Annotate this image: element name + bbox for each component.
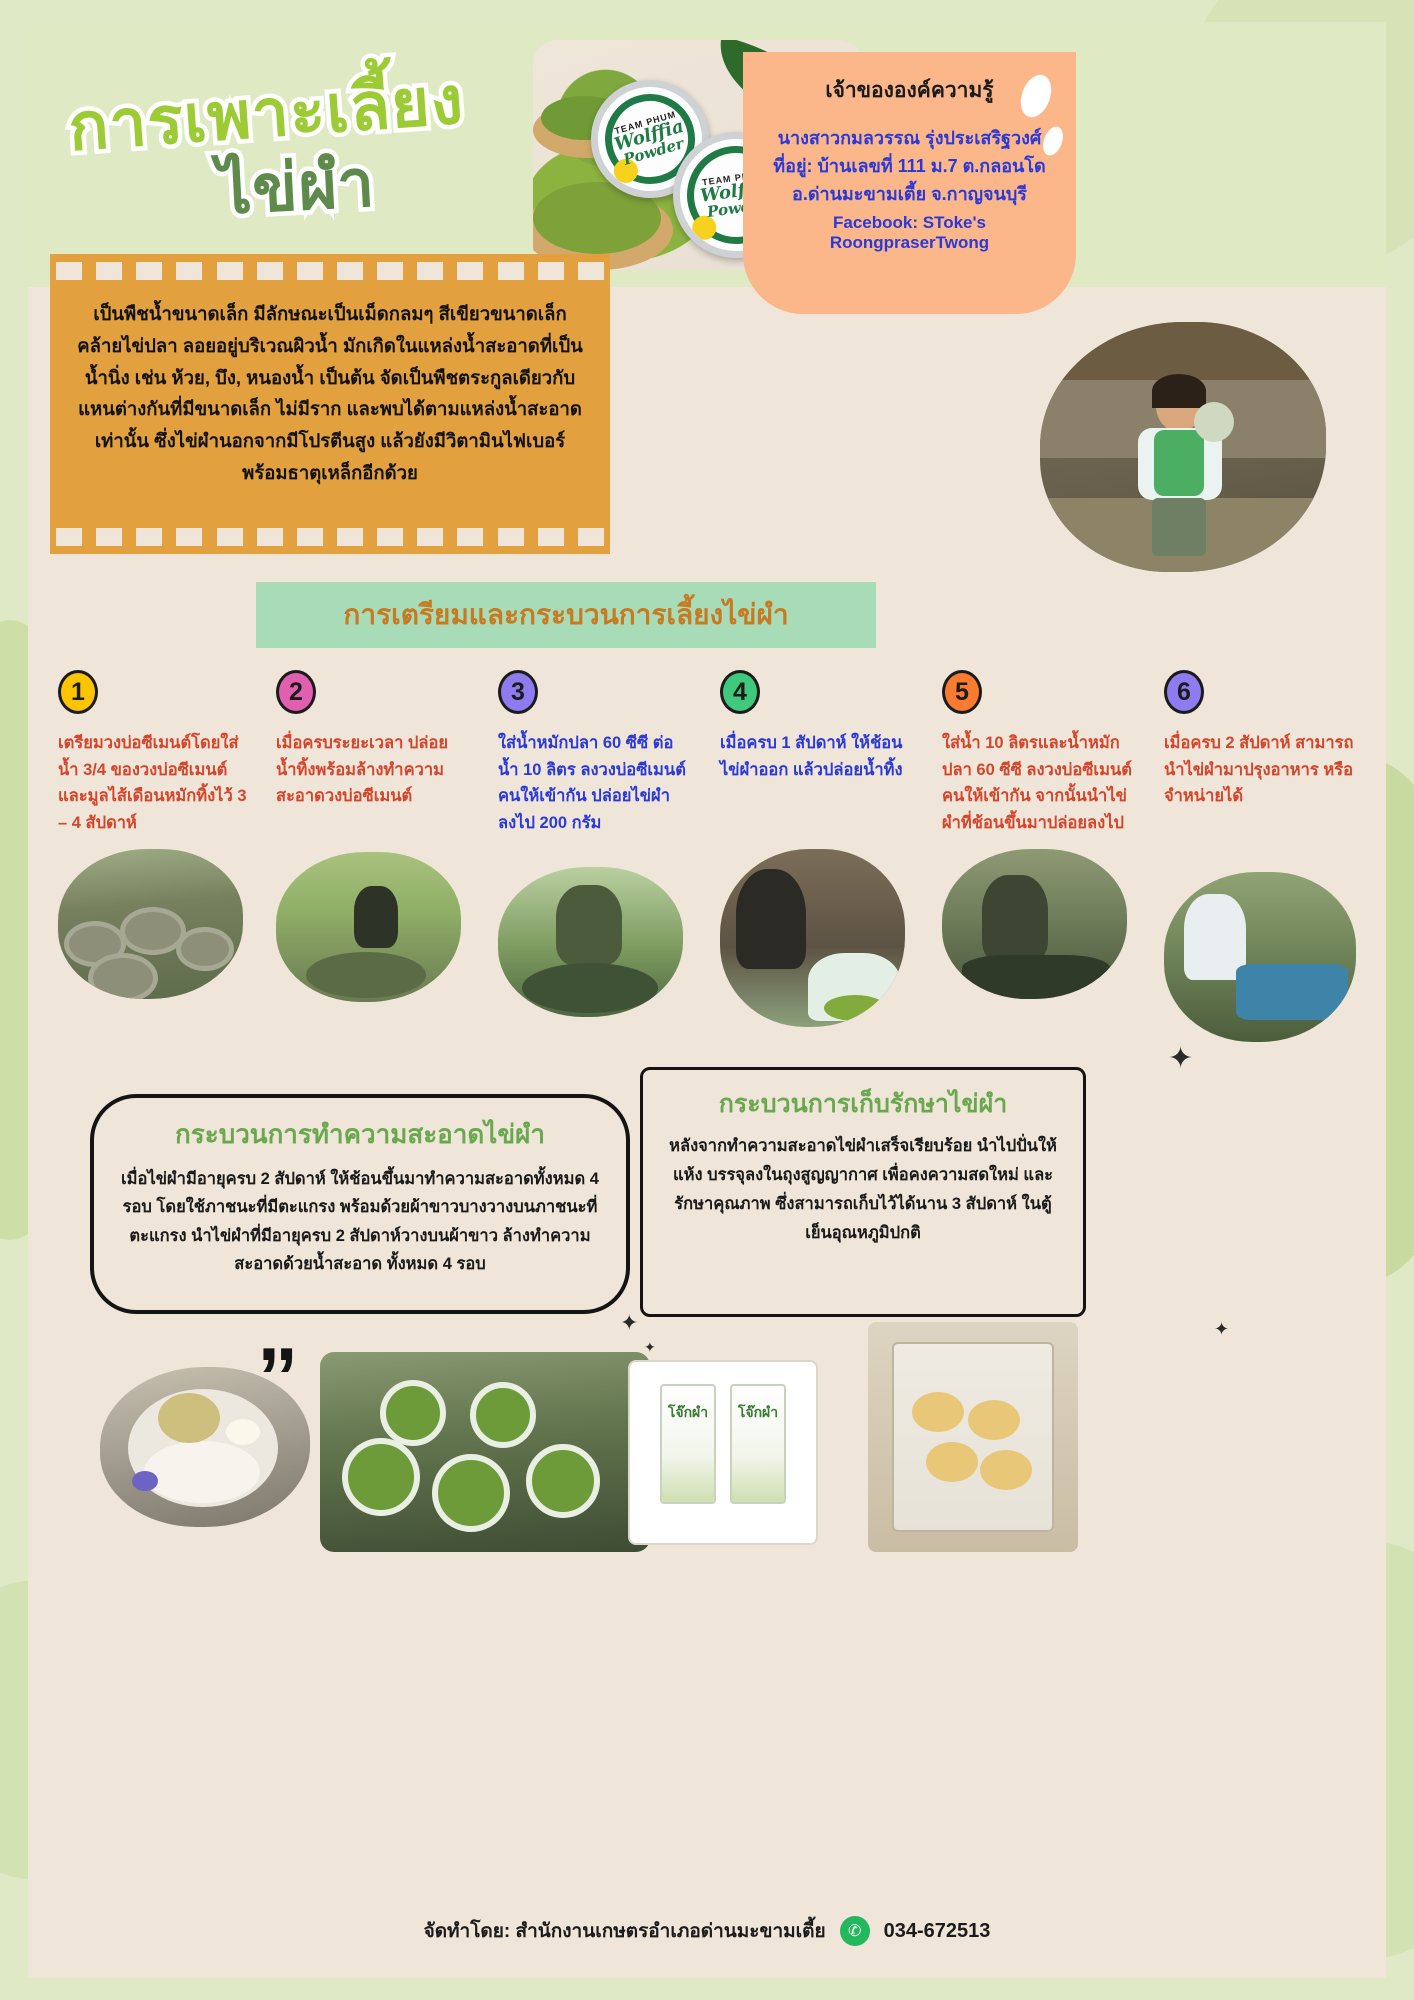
person-legs	[1152, 498, 1206, 556]
person-silhouette	[354, 886, 398, 948]
film-perforation-top	[50, 262, 610, 280]
step-text: เมื่อครบ 1 สัปดาห์ ให้ช้อนไข่ผำออก แล้วป…	[720, 730, 910, 783]
cement-ring	[176, 927, 234, 971]
congee-label: โจ๊กผำ	[732, 1402, 784, 1424]
sparkle-icon: ✦	[620, 1312, 638, 1334]
step-text: ใส่น้ำหมักปลา 60 ซีซี ต่อน้ำ 10 ลิตร ลงว…	[498, 730, 688, 837]
step-number-badge: 3	[498, 670, 538, 714]
sparkle-icon: ✦	[1214, 1320, 1229, 1338]
section-header: การเตรียมและกระบวนการเลี้ยงไข่ผำ	[256, 582, 876, 648]
noodle-shape	[144, 1441, 260, 1503]
pond-shape	[522, 963, 658, 1013]
person-silhouette	[1184, 894, 1246, 980]
wolffia-cup	[526, 1444, 600, 1518]
step-item: 2 เมื่อครบระยะเวลา ปล่อยน้ำทิ้งพร้อมล้าง…	[276, 670, 466, 1002]
farmer-photo	[1040, 322, 1326, 572]
egg-shape	[226, 1419, 260, 1445]
description-box: เป็นพืชน้ำขนาดเล็ก มีลักษณะเป็นเม็ดกลมๆ …	[50, 254, 610, 554]
owner-address-line-1: ที่อยู่: บ้านเลขที่ 111 ม.7 ต.กลอนโด	[761, 153, 1058, 181]
step-text: เตรียมวงบ่อซีเมนต์โดยใส่น้ำ 3/4 ของวงบ่อ…	[58, 730, 248, 837]
step-number-badge: 1	[58, 670, 98, 714]
owner-address-line-2: อ.ด่านมะขามเตี้ย จ.กาญจนบุรี	[761, 181, 1058, 209]
person-vest	[1154, 430, 1204, 496]
cookie-shape	[912, 1392, 964, 1432]
step-photo	[58, 849, 243, 999]
storage-text: หลังจากทำความสะอาดไข่ผำเสร็จเรียบร้อย นำ…	[663, 1132, 1063, 1248]
owner-heading: เจ้าขององค์ความรู้	[761, 74, 1058, 107]
description-text: เป็นพืชน้ำขนาดเล็ก มีลักษณะเป็นเม็ดกลมๆ …	[76, 298, 584, 489]
speech-bubble-tail-icon: ,,	[258, 1310, 293, 1357]
congee-product-photo: โจ๊กผำ โจ๊กผำ	[628, 1360, 818, 1545]
sparkle-icon: ✦	[644, 1340, 656, 1354]
film-perforation-bottom	[50, 528, 610, 546]
owner-name: นางสาวกมลวรรณ รุ่งประเสริฐวงศ์	[761, 125, 1058, 153]
wolffia-cup	[432, 1454, 510, 1532]
storage-heading: กระบวนการเก็บรักษาไข่ผำ	[663, 1084, 1063, 1124]
footer-credit: จัดทำโดย: สำนักงานเกษตรอำเภอด่านมะขามเตี…	[424, 1916, 826, 1946]
step-photo	[276, 852, 461, 1002]
congee-pouch: โจ๊กผำ	[730, 1384, 786, 1504]
step-text: เมื่อครบระยะเวลา ปล่อยน้ำทิ้งพร้อมล้างทำ…	[276, 730, 466, 810]
storage-process-box: กระบวนการเก็บรักษาไข่ผำ หลังจากทำความสะอ…	[640, 1067, 1086, 1317]
tin-label: TEAM PHUM Wolffia Powder	[610, 109, 690, 169]
person-silhouette	[736, 869, 806, 969]
poster-canvas: การเพาะเลี้ยง ไข่ผำ TEAM PHUM Wolffia Po…	[28, 22, 1386, 1978]
phone-icon: ✆	[840, 1916, 870, 1946]
step-number-badge: 2	[276, 670, 316, 714]
flower-shape	[132, 1471, 158, 1491]
person-silhouette	[982, 875, 1048, 963]
footer: จัดทำโดย: สำนักงานเกษตรอำเภอด่านมะขามเตี…	[28, 1916, 1386, 1946]
step-text: เมื่อครบ 2 สัปดาห์ สามารถนำไข่ผำมาปรุงอา…	[1164, 730, 1354, 810]
step-photo	[498, 867, 683, 1017]
infographic-poster: การเพาะเลี้ยง ไข่ผำ TEAM PHUM Wolffia Po…	[0, 0, 1414, 2000]
cookie-shape	[968, 1400, 1020, 1440]
tank-shape	[306, 952, 426, 998]
step-item: 4 เมื่อครบ 1 สัปดาห์ ให้ช้อนไข่ผำออก แล้…	[720, 670, 910, 1027]
wolffia-cup	[342, 1438, 420, 1516]
cement-ring	[88, 953, 158, 999]
section-header-label: การเตรียมและกระบวนการเลี้ยงไข่ผำ	[343, 593, 788, 637]
step-number-badge: 4	[720, 670, 760, 714]
congee-pouch: โจ๊กผำ	[660, 1384, 716, 1504]
step-photo	[942, 849, 1127, 999]
packed-wolffia-photo	[320, 1352, 650, 1552]
wolffia-cup	[380, 1380, 446, 1446]
owner-facebook[interactable]: Facebook: SToke's RoongpraserTwong	[761, 213, 1058, 253]
step-item: 1 เตรียมวงบ่อซีเมนต์โดยใส่น้ำ 3/4 ของวงบ…	[58, 670, 248, 999]
page-title: การเพาะเลี้ยง ไข่ผำ	[68, 77, 588, 215]
step-text: ใส่น้ำ 10 ลิตรและน้ำหมักปลา 60 ซีซี ลงวง…	[942, 730, 1132, 837]
soup-bowl-shape	[158, 1393, 220, 1443]
cleaning-heading: กระบวนการทำความสะอาดไข่ผำ	[120, 1114, 600, 1155]
congee-label: โจ๊กผำ	[662, 1402, 714, 1424]
blue-table	[1236, 964, 1348, 1020]
photo-person	[1132, 380, 1228, 550]
cookie-product-photo	[868, 1322, 1078, 1552]
table-shape	[962, 955, 1110, 999]
cookie-shape	[926, 1442, 978, 1482]
cleaning-text: เมื่อไข่ผำมีอายุครบ 2 สัปดาห์ ให้ช้อนขึ้…	[120, 1165, 600, 1279]
step-item: 3 ใส่น้ำหมักปลา 60 ซีซี ต่อน้ำ 10 ลิตร ล…	[498, 670, 688, 1017]
step-item: 5 ใส่น้ำ 10 ลิตรและน้ำหมักปลา 60 ซีซี ลง…	[942, 670, 1132, 999]
step-number-badge: 6	[1164, 670, 1204, 714]
cleaning-process-bubble: กระบวนการทำความสะอาดไข่ผำ เมื่อไข่ผำมีอา…	[90, 1094, 630, 1314]
person-silhouette	[556, 885, 622, 965]
photo-roof	[1040, 322, 1326, 380]
person-bag	[1194, 402, 1234, 442]
step-photo	[1164, 872, 1356, 1042]
step-photo	[720, 849, 905, 1027]
footer-phone[interactable]: 034-672513	[884, 1920, 991, 1943]
dish-photo	[100, 1367, 310, 1527]
step-number-badge: 5	[942, 670, 982, 714]
sparkle-icon: ✦	[1168, 1044, 1193, 1074]
wolffia-cup	[470, 1382, 536, 1448]
step-item: 6 เมื่อครบ 2 สัปดาห์ สามารถนำไข่ผำมาปรุง…	[1164, 670, 1354, 1042]
knowledge-owner-card: เจ้าขององค์ความรู้ นางสาวกมลวรรณ รุ่งประ…	[743, 52, 1076, 314]
product-bag	[892, 1342, 1054, 1532]
cookie-shape	[980, 1450, 1032, 1490]
person-hair	[1152, 374, 1206, 408]
